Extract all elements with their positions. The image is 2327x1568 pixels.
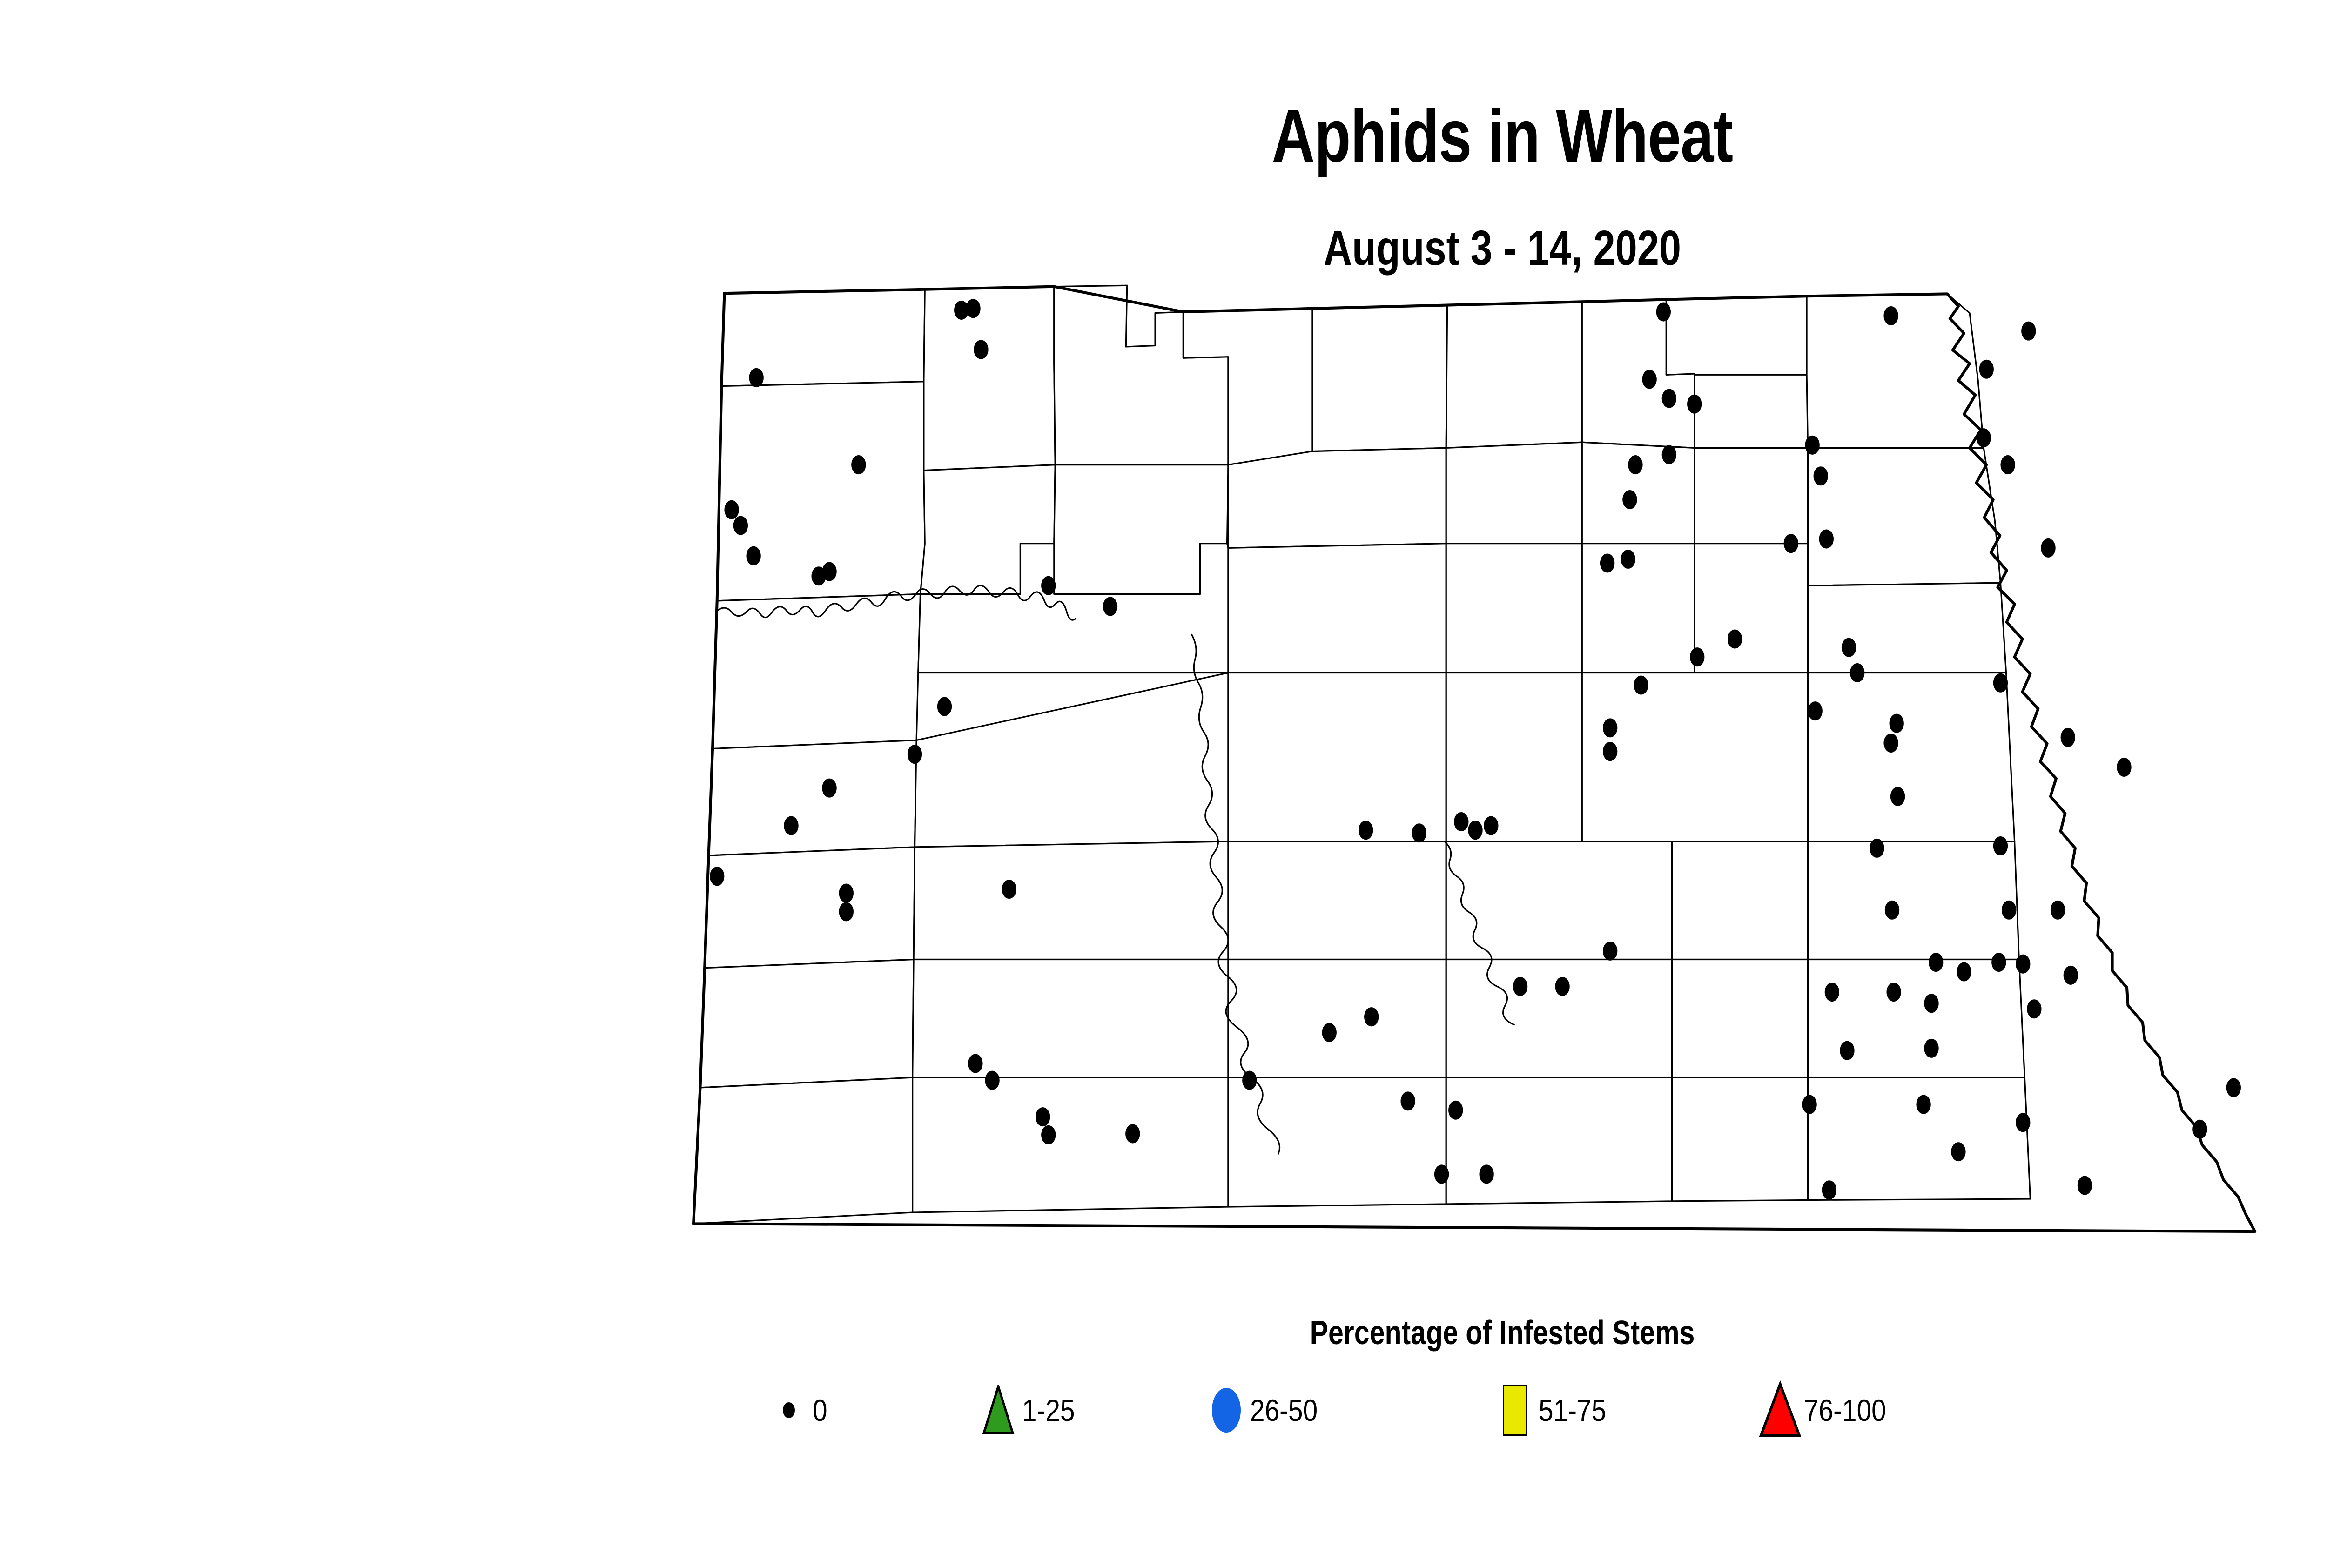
sample-point <box>2061 728 2075 747</box>
sample-point <box>784 816 798 835</box>
sample-point <box>1359 821 1373 840</box>
sample-point <box>974 340 988 359</box>
sample-point <box>1600 553 1614 572</box>
sample-point <box>1814 466 1828 485</box>
sample-point <box>839 902 854 921</box>
sample-point <box>822 562 836 581</box>
sample-point <box>2021 322 2036 341</box>
sample-point <box>1883 306 1898 325</box>
sample-point <box>1555 977 1569 996</box>
sample-point <box>1603 942 1617 961</box>
sample-point <box>966 299 980 318</box>
sample-point <box>2192 1120 2207 1139</box>
map-svg <box>661 279 2290 1280</box>
sample-point <box>1886 983 1901 1002</box>
sample-point <box>1364 1007 1379 1026</box>
sample-point <box>2051 901 2065 920</box>
sample-point <box>2064 966 2078 985</box>
sample-point <box>1041 576 1056 595</box>
sample-point <box>1993 836 2008 855</box>
sample-point <box>1513 977 1527 996</box>
sample-point <box>1805 436 1819 455</box>
sample-point <box>1993 673 2008 693</box>
sample-point <box>1448 1101 1463 1120</box>
sample-point <box>1916 1095 1930 1114</box>
sample-point <box>2027 999 2041 1018</box>
legend-title: Percentage of Infested Stems <box>270 1316 2327 1350</box>
sample-point <box>1434 1164 1449 1184</box>
sample-point <box>1889 714 1903 733</box>
sample-point <box>1802 1095 1816 1114</box>
legend-label-0: 0 <box>813 1393 827 1428</box>
sample-point <box>1656 303 1671 322</box>
sample-point <box>1036 1107 1050 1126</box>
sample-point <box>1728 630 1742 649</box>
sample-point <box>1634 676 1648 695</box>
legend-item-26-50[interactable]: 26-50 <box>1205 1366 1329 1454</box>
sample-point <box>985 1071 999 1090</box>
sample-point <box>1977 428 1991 447</box>
sample-point <box>1125 1124 1140 1143</box>
yellow-square-icon <box>1494 1375 1536 1445</box>
sample-point <box>2000 455 2015 474</box>
sample-point <box>1822 1180 1836 1199</box>
sample-point <box>1819 530 1834 549</box>
legend-item-76-100[interactable]: 76-100 <box>1759 1366 1900 1454</box>
sample-point <box>1103 597 1117 616</box>
sample-point <box>1924 994 1938 1013</box>
sample-point <box>1484 816 1498 835</box>
sample-point <box>1628 455 1642 474</box>
sample-point <box>1662 389 1676 408</box>
sample-point <box>1412 823 1426 842</box>
sample-point <box>2016 955 2030 974</box>
sample-point <box>1642 370 1656 389</box>
sample-point <box>1622 490 1637 509</box>
sample-point <box>1687 395 1702 414</box>
sample-point <box>1979 360 1994 379</box>
sample-point <box>1840 1041 1854 1060</box>
sample-point <box>1808 701 1822 720</box>
sample-point <box>839 883 854 902</box>
page-subtitle: August 3 - 14, 2020 <box>301 223 2327 273</box>
legend-item-51-75[interactable]: 51-75 <box>1494 1366 1617 1454</box>
blue-circle-icon <box>1205 1375 1247 1445</box>
sample-point <box>1842 638 1856 657</box>
sample-point <box>710 867 724 886</box>
legend: 0 1-25 26-50 51-75 <box>768 1366 2257 1454</box>
sample-point <box>749 368 763 387</box>
sample-point <box>968 1054 982 1073</box>
sample-point <box>822 779 836 798</box>
sample-point <box>1002 880 1016 899</box>
sample-point <box>1242 1071 1257 1090</box>
sample-point <box>2078 1176 2092 1195</box>
sample-point <box>1784 534 1798 553</box>
sample-point <box>1454 812 1468 831</box>
sample-point <box>1870 839 1884 858</box>
sample-point <box>1322 1023 1337 1042</box>
sample-point <box>1929 953 1943 972</box>
legend-label-26-50: 26-50 <box>1250 1393 1318 1428</box>
sample-point <box>1957 962 1971 982</box>
sample-point <box>1690 647 1704 666</box>
sample-point <box>746 546 760 565</box>
sample-point <box>1890 787 1905 806</box>
sample-point <box>1883 734 1898 753</box>
red-triangle-icon <box>1759 1375 1801 1445</box>
map-page: Aphids in Wheat August 3 - 14, 2020 <box>0 0 2327 1568</box>
sample-point <box>2226 1078 2241 1097</box>
page-title: Aphids in Wheat <box>301 99 2327 173</box>
sample-point <box>937 697 952 716</box>
legend-item-1-25[interactable]: 1-25 <box>977 1366 1083 1454</box>
sample-point <box>1924 1039 1938 1058</box>
sample-point <box>1991 953 2006 972</box>
sample-point <box>2117 758 2131 777</box>
north-dakota-county-map <box>661 279 2290 1280</box>
sample-point <box>1041 1125 1056 1144</box>
sample-point <box>1951 1142 1965 1161</box>
sample-point <box>1885 901 1899 920</box>
sample-point <box>908 745 922 764</box>
sample-point <box>2002 901 2016 920</box>
sample-point <box>1662 445 1676 464</box>
sample-point <box>2041 538 2055 558</box>
sample-point <box>1603 718 1617 737</box>
sample-point <box>1468 821 1482 840</box>
sample-point <box>1825 983 1839 1002</box>
sample-point <box>1621 550 1635 569</box>
black-dot-icon <box>768 1375 810 1445</box>
sample-point <box>1400 1091 1415 1110</box>
sample-point <box>851 455 866 474</box>
legend-item-0[interactable]: 0 <box>768 1366 830 1454</box>
legend-label-51-75: 51-75 <box>1539 1393 1606 1428</box>
sample-point <box>724 500 739 519</box>
sample-point <box>1850 663 1864 682</box>
green-triangle-icon <box>977 1375 1019 1445</box>
sample-point <box>2016 1113 2030 1132</box>
sample-point <box>733 516 748 535</box>
sample-point <box>1603 742 1617 761</box>
legend-label-1-25: 1-25 <box>1022 1393 1075 1428</box>
legend-label-76-100: 76-100 <box>1804 1393 1886 1428</box>
county-boundaries <box>693 285 2030 1224</box>
sample-point <box>1479 1164 1493 1184</box>
